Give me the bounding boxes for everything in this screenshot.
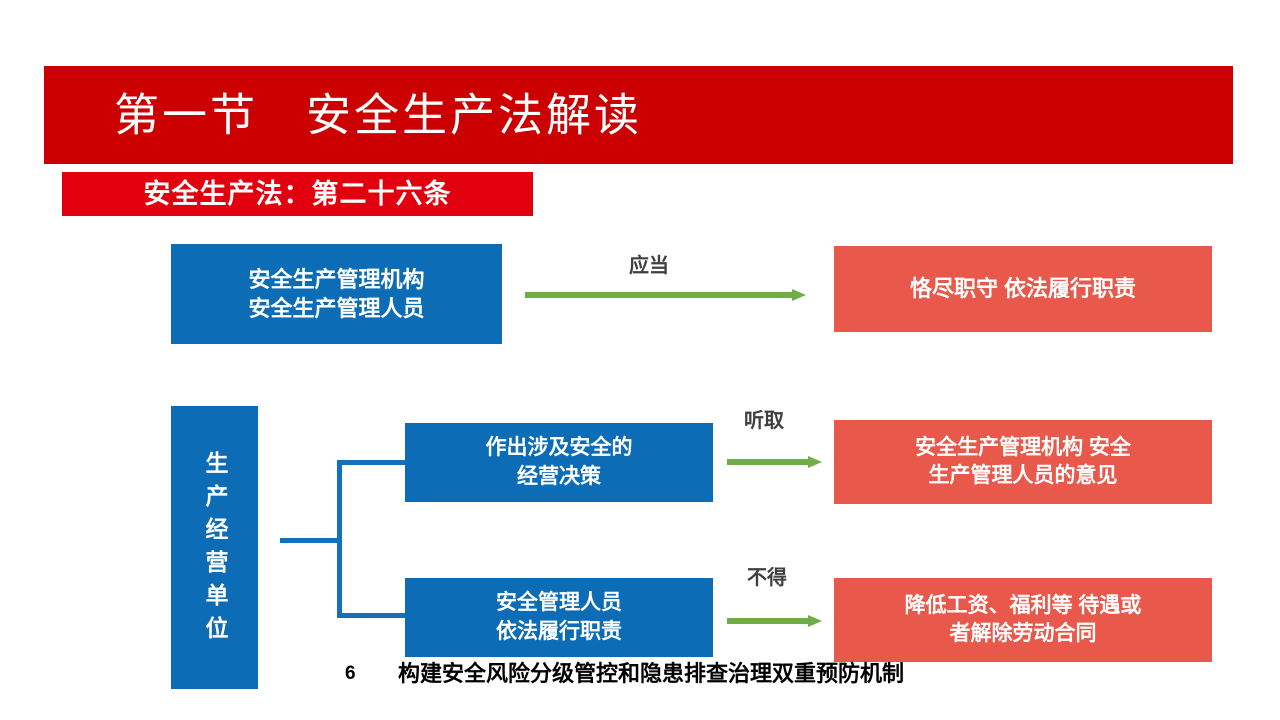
arrow-right-icon-row1: [525, 289, 806, 301]
title-banner: 第一节 安全生产法解读: [44, 66, 1233, 164]
connector-branch-bottom: [337, 613, 407, 618]
flow-box-staff-opinion: 安全生产管理机构 安全 生产管理人员的意见: [834, 420, 1212, 504]
flow-box-business-decision-line1: 作出涉及安全的: [486, 434, 633, 462]
flow-box-safety-org: 安全生产管理机构 安全生产管理人员: [171, 244, 502, 344]
arrow-shaft: [525, 292, 792, 298]
arrow-shaft: [727, 459, 808, 465]
subtitle-tag: 安全生产法：第二十六条: [62, 172, 533, 216]
flow-box-staff-opinion-line2: 生产管理人员的意见: [915, 462, 1131, 490]
flow-box-duty-result-line1: 恪尽职守 依法履行职责: [910, 274, 1136, 303]
flow-box-safety-org-line2: 安全生产管理人员: [248, 294, 424, 323]
arrow-head: [808, 456, 822, 468]
flow-box-safety-staff-duty: 安全管理人员 依法履行职责: [405, 578, 713, 657]
page-title: 第一节 安全生产法解读: [114, 93, 642, 138]
flow-box-safety-staff-duty-line2: 依法履行职责: [496, 618, 622, 646]
connector-branch-top: [337, 460, 407, 465]
flow-box-production-unit-label: 生产经营单位: [203, 451, 226, 649]
flow-box-prohibited-actions: 降低工资、福利等 待遇或 者解除劳动合同: [834, 578, 1212, 662]
flow-box-safety-org-line1: 安全生产管理机构: [248, 265, 424, 294]
connector-vertical: [337, 460, 342, 618]
arrow-right-icon-row3: [727, 615, 822, 627]
arrow-shaft: [727, 618, 808, 624]
flow-box-duty-result: 恪尽职守 依法履行职责: [834, 246, 1212, 332]
flow-box-business-decision: 作出涉及安全的 经营决策: [405, 423, 713, 502]
connector-stub: [280, 538, 342, 543]
arrow-right-icon-row2: [727, 456, 822, 468]
flow-box-prohibited-actions-line1: 降低工资、福利等 待遇或: [905, 592, 1142, 620]
flow-box-business-decision-line2: 经营决策: [486, 463, 633, 491]
subtitle-tag-label: 安全生产法：第二十六条: [144, 181, 452, 208]
flow-box-prohibited-actions-line2: 者解除劳动合同: [905, 620, 1142, 648]
arrow-head: [808, 615, 822, 627]
page-number: 6: [345, 664, 356, 683]
arrow-label-row2: 听取: [744, 411, 784, 431]
arrow-head: [792, 289, 806, 301]
flow-box-safety-staff-duty-line1: 安全管理人员: [496, 589, 622, 617]
arrow-label-row1: 应当: [629, 256, 669, 276]
flow-box-staff-opinion-line1: 安全生产管理机构 安全: [915, 434, 1131, 462]
footer-text: 构建安全风险分级管控和隐患排查治理双重预防机制: [398, 663, 904, 685]
flow-box-production-unit: 生产经营单位: [171, 406, 258, 689]
arrow-label-row3: 不得: [747, 568, 787, 588]
slide-canvas: 第一节 安全生产法解读 安全生产法：第二十六条 安全生产管理机构 安全生产管理人…: [0, 0, 1280, 720]
